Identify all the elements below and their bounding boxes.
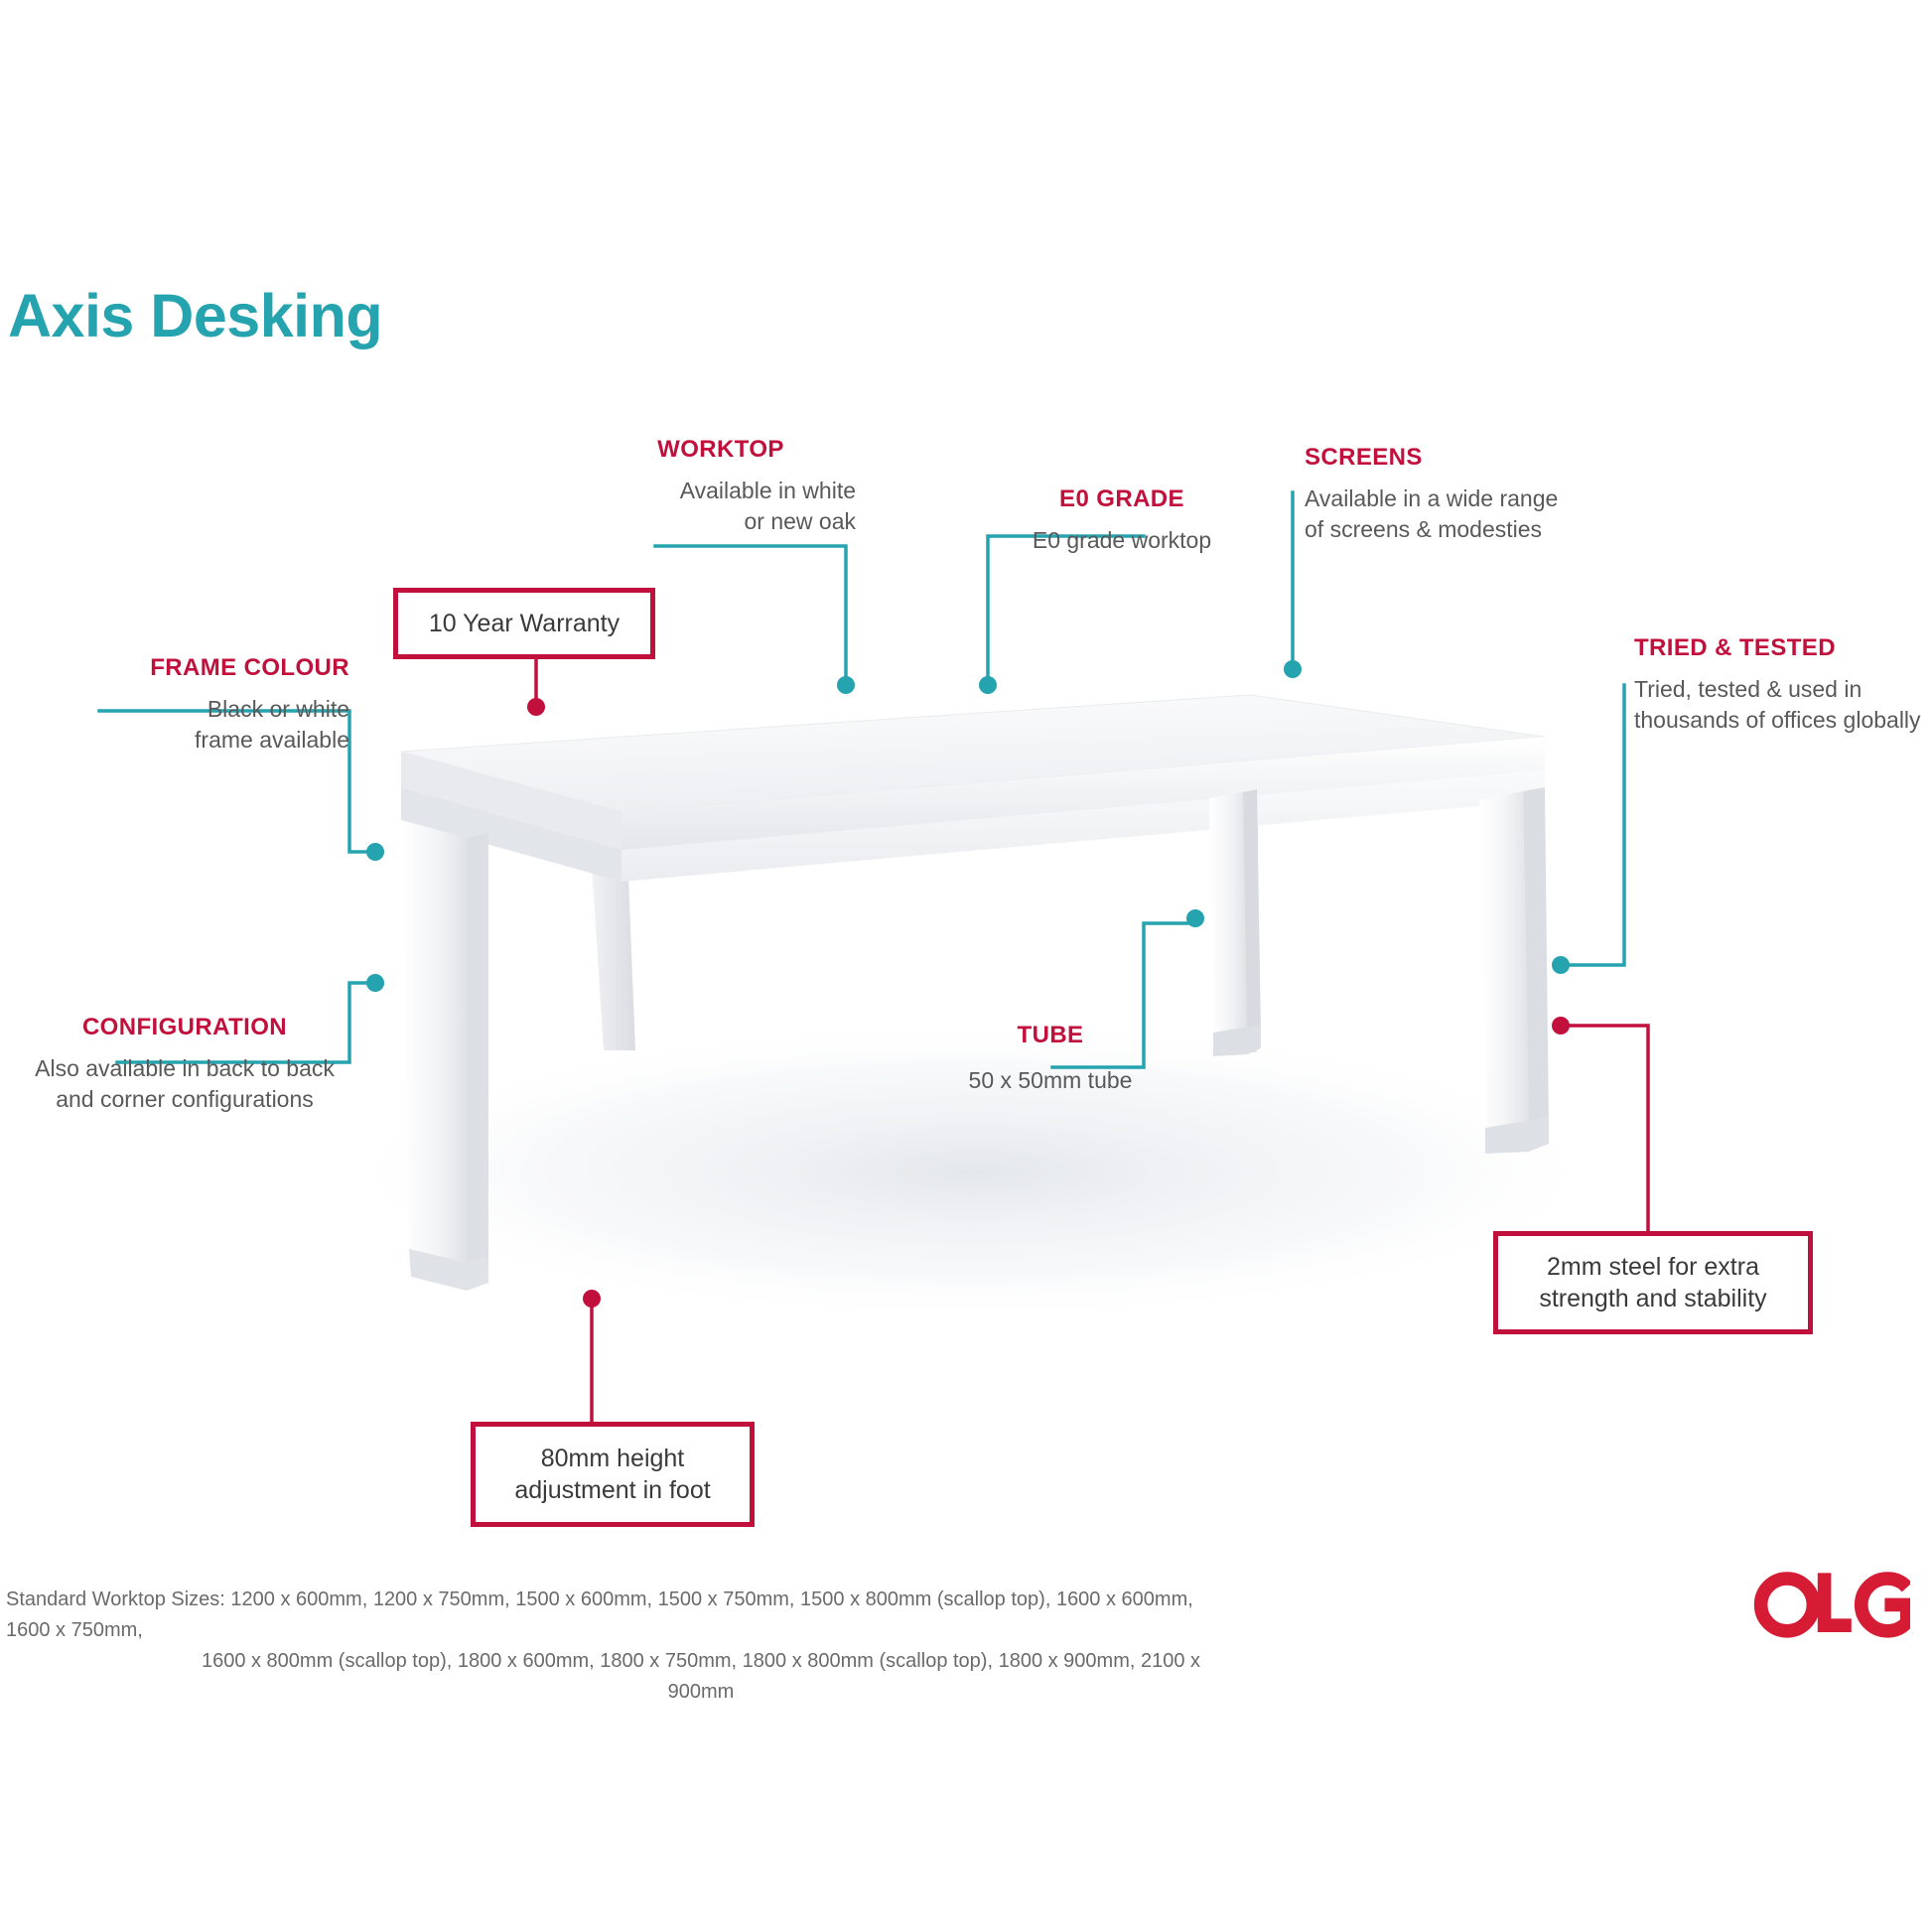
footer-line-2: 1600 x 800mm (scallop top), 1800 x 600mm… (6, 1646, 1217, 1708)
callout-e0-grade-heading: E0 GRADE (993, 486, 1251, 512)
callout-worktop: WORKTOP Available in white or new oak (586, 437, 856, 536)
connector-dot-e0-grade (979, 676, 997, 694)
callout-configuration-heading: CONFIGURATION (18, 1015, 351, 1040)
boxed-callout-height-line1: 80mm height (541, 1443, 685, 1475)
connector-dot-screens (1284, 660, 1302, 678)
callout-frame-colour-body: Black or white frame available (62, 694, 349, 755)
callout-screens-body: Available in a wide range of screens & m… (1305, 483, 1602, 544)
callout-screens: SCREENS Available in a wide range of scr… (1305, 445, 1602, 544)
callout-screens-heading: SCREENS (1305, 445, 1602, 471)
connector-dot-tube (1186, 909, 1204, 927)
desk-leg-front-left (401, 820, 488, 1291)
boxed-callout-steel-line1: 2mm steel for extra (1547, 1251, 1759, 1284)
connector-dot-steel (1552, 1017, 1570, 1035)
footer-worktop-sizes: Standard Worktop Sizes: 1200 x 600mm, 12… (6, 1585, 1217, 1708)
callout-tried-tested: TRIED & TESTED Tried, tested & used in t… (1634, 635, 1932, 735)
connector-worktop (655, 546, 846, 679)
callout-configuration: CONFIGURATION Also available in back to … (18, 1015, 351, 1114)
callout-frame-colour-heading: FRAME COLOUR (62, 655, 349, 681)
desk-leg-front-right (1479, 787, 1549, 1154)
boxed-callout-warranty-text: 10 Year Warranty (429, 608, 620, 640)
callout-e0-grade: E0 GRADE E0 grade worktop (993, 486, 1251, 556)
boxed-callout-steel: 2mm steel for extra strength and stabili… (1493, 1231, 1813, 1334)
boxed-callout-warranty: 10 Year Warranty (393, 588, 655, 659)
connector-dot-frame-colour (366, 843, 384, 861)
callout-tried-tested-heading: TRIED & TESTED (1634, 635, 1932, 661)
callout-configuration-body: Also available in back to back and corne… (18, 1053, 351, 1114)
product-diagram-page: Axis Desking (0, 0, 1932, 1932)
boxed-callout-height-line2: adjustment in foot (514, 1474, 710, 1507)
connector-dot-warranty (527, 698, 545, 716)
connector-dot-tried-tested (1552, 956, 1570, 974)
connector-dot-height-adjust (583, 1290, 601, 1308)
callout-frame-colour: FRAME COLOUR Black or white frame availa… (62, 655, 349, 755)
connector-tried-tested (1569, 685, 1624, 965)
callout-tube-heading: TUBE (943, 1023, 1158, 1048)
desk-leg-mid-right (1209, 789, 1261, 1056)
callout-tube-body: 50 x 50mm tube (943, 1065, 1158, 1095)
callout-e0-grade-body: E0 grade worktop (993, 525, 1251, 555)
connector-e0-grade (988, 536, 1144, 679)
callout-worktop-body: Available in white or new oak (586, 476, 856, 536)
callout-tube: TUBE 50 x 50mm tube (943, 1023, 1158, 1096)
connector-dot-worktop (837, 676, 855, 694)
boxed-callout-height-adjust: 80mm height adjustment in foot (471, 1422, 755, 1527)
callout-worktop-heading: WORKTOP (586, 437, 856, 463)
footer-line-1: Standard Worktop Sizes: 1200 x 600mm, 12… (6, 1585, 1217, 1646)
connector-dot-configuration (366, 974, 384, 992)
boxed-callout-steel-line2: strength and stability (1539, 1283, 1766, 1315)
callout-tried-tested-body: Tried, tested & used in thousands of off… (1634, 674, 1932, 735)
olg-logo: OLG (1751, 1569, 1910, 1644)
